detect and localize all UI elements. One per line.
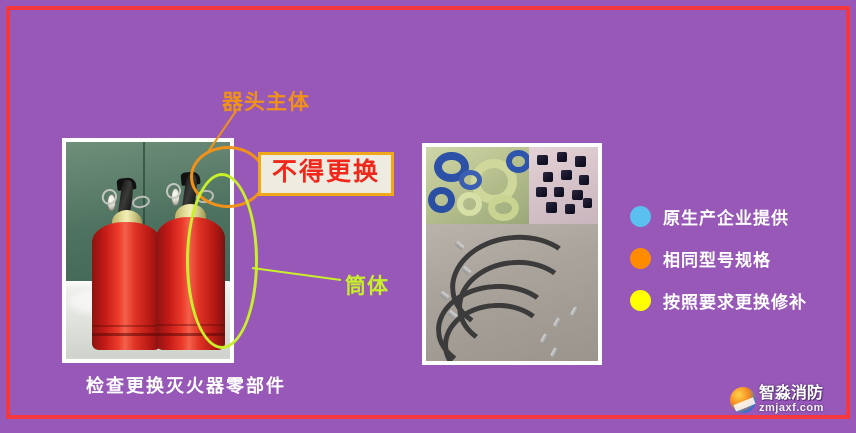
- carry-handle: [100, 187, 120, 207]
- nozzle: [536, 187, 547, 197]
- legend-item-label: 相同型号规格: [663, 246, 771, 271]
- legend-item-label: 原生产企业提供: [663, 204, 789, 229]
- legend-item: 相同型号规格: [630, 246, 807, 271]
- hose-ferrule: [455, 241, 465, 251]
- legend-bullet-blue-dot-icon: [630, 206, 651, 227]
- fire-extinguisher-left: [92, 177, 161, 351]
- callout-text: 不得更换: [272, 158, 380, 186]
- right-photo-frame: [422, 143, 602, 365]
- nozzle: [565, 204, 575, 214]
- legend-item-label: 按照要求更换修补: [663, 288, 807, 313]
- o-ring: [459, 170, 482, 190]
- label-cylinder: 筒体: [345, 270, 389, 300]
- nozzle: [579, 175, 589, 185]
- cylinder-leader-line: [252, 268, 341, 280]
- carry-handle: [163, 181, 183, 202]
- nozzle-parts-photo: [529, 147, 598, 224]
- label-valve-head: 器头主体: [222, 86, 310, 116]
- cylinder-highlight-ellipse: [186, 173, 258, 349]
- right-photo-image: [426, 147, 598, 361]
- zhimiao-fire-logo-icon: [730, 387, 756, 413]
- legend-item: 原生产企业提供: [630, 204, 807, 229]
- hose-parts-photo: [426, 224, 598, 361]
- nozzle: [543, 172, 553, 182]
- nozzle: [537, 155, 548, 165]
- o-ring: [457, 192, 482, 217]
- left-photo-caption: 检查更换灭火器零部件: [86, 372, 286, 398]
- hose-ferrule: [439, 290, 449, 299]
- legend-bullet-orange-dot-icon: [630, 248, 651, 269]
- nozzle: [583, 198, 593, 208]
- nozzle: [572, 190, 583, 200]
- do-not-replace-callout: 不得更换: [258, 152, 394, 196]
- o-ring: [488, 195, 519, 221]
- seal-rings-photo: [426, 147, 529, 224]
- legend-list: 原生产企业提供 相同型号规格 按照要求更换修补: [630, 204, 807, 330]
- nozzle: [554, 187, 564, 197]
- cylinder-body: [92, 222, 161, 350]
- watermark-brand: 智淼消防: [759, 386, 824, 402]
- watermark-text: 智淼消防 zmjaxf.com: [759, 386, 824, 414]
- legend-item: 按照要求更换修补: [630, 288, 807, 313]
- nozzle: [546, 202, 557, 213]
- safety-pin: [131, 194, 151, 210]
- slide-canvas: 器头主体 筒体 不得更换 检查更换灭火器零部件: [0, 0, 856, 433]
- legend-bullet-yellow-dot-icon: [630, 290, 651, 311]
- watermark: 智淼消防 zmjaxf.com: [730, 386, 824, 414]
- nozzle: [557, 152, 567, 162]
- o-ring: [428, 187, 455, 213]
- o-ring: [506, 150, 529, 173]
- nozzle: [561, 170, 572, 180]
- nozzle: [575, 156, 586, 167]
- watermark-url: zmjaxf.com: [759, 403, 824, 414]
- hose-ferrule: [550, 347, 559, 357]
